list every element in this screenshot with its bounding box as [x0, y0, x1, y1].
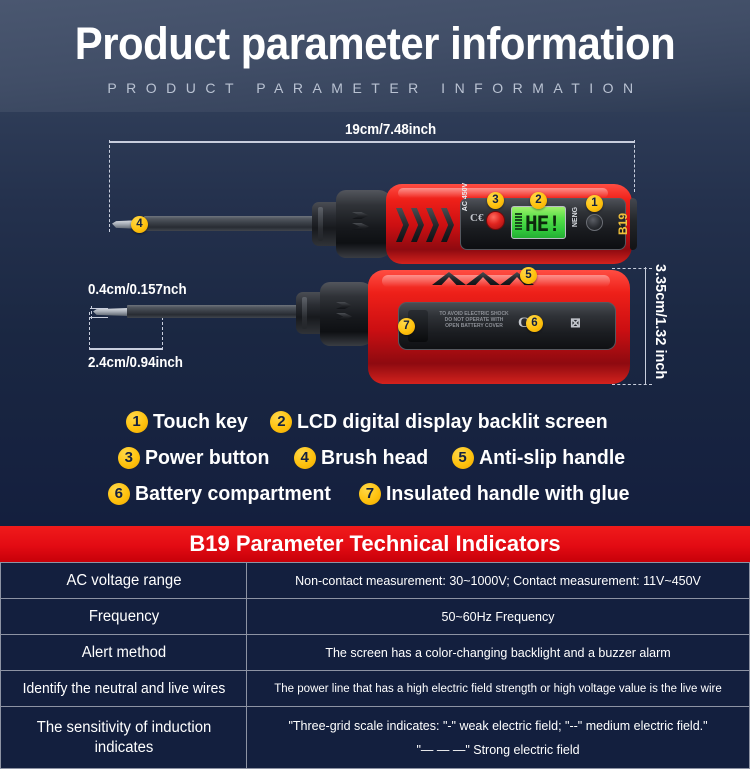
legend-badge-3: 3: [118, 447, 140, 469]
legend-label-3: Power button: [145, 446, 269, 470]
collar-ridge: [318, 207, 323, 241]
shaft: [127, 305, 305, 318]
table-key: Frequency: [5, 599, 241, 635]
callout-badge-1: 1: [586, 195, 603, 212]
collar-ridge: [302, 297, 307, 329]
legend-item-6: 6 Battery compartment: [108, 482, 341, 506]
table-key: The sensitivity of induction indicates: [5, 707, 241, 769]
dimension-line-tip-width-bottom: [90, 317, 108, 318]
voltage-marking: AC 450V: [462, 182, 469, 212]
table-value-line1: "Three-grid scale indicates: "-" weak el…: [250, 719, 746, 733]
legend-label-6: Battery compartment: [135, 482, 331, 506]
page-title: Product parameter information: [26, 18, 724, 70]
product-diagram: 19cm/7.48inch AC 450V C€: [0, 112, 750, 402]
table-key: AC voltage range: [5, 563, 241, 599]
dimension-guide-bottom: [612, 384, 652, 385]
table-value: 50~60Hz Frequency: [247, 599, 750, 635]
recycle-icon: ⊠: [570, 315, 581, 331]
legend-row: 3 Power button 4 Brush head 5 Anti-slip …: [0, 440, 750, 476]
dimension-label-length: 19cm/7.48inch: [345, 122, 436, 138]
lcd-value: HE!: [525, 212, 560, 236]
legend-label-7: Insulated handle with glue: [386, 482, 629, 506]
table-key: Identify the neutral and live wires: [5, 671, 241, 707]
touch-key[interactable]: [586, 214, 603, 231]
callout-badge-6: 6: [526, 315, 543, 332]
dimension-tick-tip-w: [91, 306, 92, 319]
legend-row: 1 Touch key 2 LCD digital display backli…: [0, 404, 750, 440]
dimension-label-tip-length: 2.4cm/0.94inch: [88, 355, 183, 371]
legend-item-5: 5 Anti-slip handle: [452, 446, 633, 470]
callout-badge-2: 2: [530, 192, 547, 209]
legend-item-1: 1 Touch key: [126, 410, 253, 434]
table-value-cell: "Three-grid scale indicates: "-" weak el…: [247, 707, 750, 769]
ce-mark-icon: C€: [470, 212, 483, 224]
model-marking: B19: [616, 208, 630, 240]
legend-item-4: 4 Brush head: [294, 446, 434, 470]
table-row: The sensitivity of induction indicates "…: [1, 707, 750, 769]
callout-badge-4: 4: [131, 216, 148, 233]
callout-badge-3: 3: [487, 192, 504, 209]
dimension-tick-right: [634, 140, 635, 192]
dimension-line-tip-length: [89, 348, 162, 350]
end-cap: [630, 198, 637, 250]
legend-badge-4: 4: [294, 447, 316, 469]
spec-table-section: B19 Parameter Technical Indicators AC vo…: [0, 526, 750, 769]
table-value: The power line that has a high electric …: [247, 671, 750, 707]
shaft: [144, 216, 320, 231]
legend-badge-5: 5: [452, 447, 474, 469]
table-value: Non-contact measurement: 30~1000V; Conta…: [247, 563, 750, 599]
power-button[interactable]: [486, 211, 505, 230]
brand-marking: NENG: [572, 200, 579, 234]
legend-label-2: LCD digital display backlit screen: [297, 410, 608, 434]
dimension-label-height: 3.35cm/1.32 inch: [652, 264, 668, 379]
table-row: Frequency 50~60Hz Frequency: [1, 599, 750, 635]
table-key: Alert method: [5, 635, 241, 671]
table-value: The screen has a color-changing backligh…: [247, 635, 750, 671]
spec-table: AC voltage range Non-contact measurement…: [0, 562, 750, 769]
legend-item-2: 2 LCD digital display backlit screen: [270, 410, 624, 434]
dimension-tick-tip-l-left: [89, 312, 90, 350]
dimension-line-length: [109, 141, 634, 143]
legend-list: 1 Touch key 2 LCD digital display backli…: [0, 404, 750, 514]
battery-warning-text: TO AVOID ELECTRIC SHOCK DO NOT OPERATE W…: [437, 311, 511, 329]
legend-item-7: 7 Insulated handle with glue: [359, 482, 642, 506]
legend-badge-6: 6: [108, 483, 130, 505]
legend-label-4: Brush head: [321, 446, 428, 470]
brush-head-tip: [93, 308, 129, 316]
table-row: Alert method The screen has a color-chan…: [1, 635, 750, 671]
dimension-label-tip-width: 0.4cm/0.157nch: [88, 282, 187, 298]
spec-table-title: B19 Parameter Technical Indicators: [0, 526, 750, 562]
handle-highlight: [382, 275, 610, 287]
legend-row: 6 Battery compartment 7 Insulated handle…: [0, 476, 750, 512]
dimension-line-height: [645, 267, 646, 385]
legend-item-3: 3 Power button: [118, 446, 276, 470]
legend-badge-7: 7: [359, 483, 381, 505]
dimension-tick-left: [109, 140, 110, 232]
legend-badge-2: 2: [270, 411, 292, 433]
dimension-guide-top: [612, 268, 652, 269]
page-subtitle: PRODUCT PARAMETER INFORMATION: [0, 80, 750, 96]
callout-badge-5: 5: [520, 267, 537, 284]
table-row: AC voltage range Non-contact measurement…: [1, 563, 750, 599]
legend-label-1: Touch key: [153, 410, 248, 434]
legend-label-5: Anti-slip handle: [479, 446, 625, 470]
callout-badge-7: 7: [398, 318, 415, 335]
legend-badge-1: 1: [126, 411, 148, 433]
page-header: Product parameter information PRODUCT PA…: [0, 0, 750, 118]
lcd-display: HE!: [511, 206, 566, 239]
table-row: Identify the neutral and live wires The …: [1, 671, 750, 707]
lcd-scale-bars: [515, 213, 522, 230]
